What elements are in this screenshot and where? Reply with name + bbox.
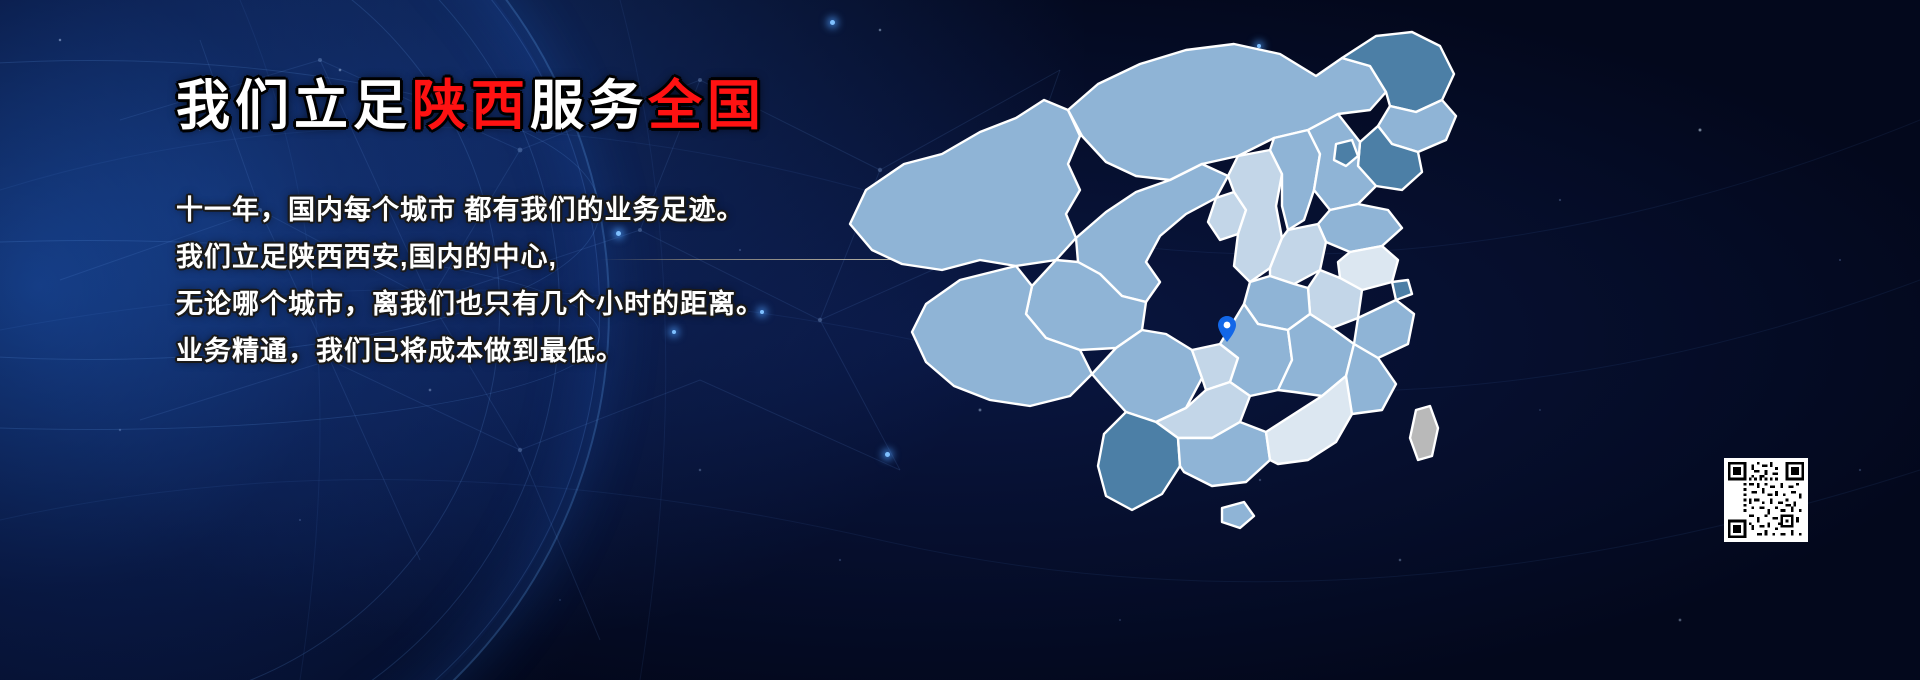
province-hainan bbox=[1222, 502, 1254, 528]
location-pin-icon[interactable] bbox=[1218, 316, 1236, 342]
body-line-1: 十一年，国内每个城市 都有我们的业务足迹。 bbox=[176, 187, 876, 234]
headline-highlight-shaanxi: 陕西 bbox=[412, 76, 530, 136]
body-line-2: 我们立足陕西西安,国内的中心, bbox=[176, 234, 876, 281]
headline-highlight-nationwide: 全国 bbox=[648, 76, 766, 136]
headline-part-1: 我们立足 bbox=[176, 76, 412, 136]
headline-part-3: 服务 bbox=[530, 76, 648, 136]
body-line-3: 无论哪个城市，离我们也只有几个小时的距离。 bbox=[176, 281, 876, 328]
china-map bbox=[830, 14, 1510, 574]
municipality-shanghai bbox=[1392, 280, 1412, 300]
copy-block: 我们立足陕西服务全国 十一年，国内每个城市 都有我们的业务足迹。 我们立足陕西西… bbox=[176, 78, 876, 375]
hero-banner: 我们立足陕西服务全国 十一年，国内每个城市 都有我们的业务足迹。 我们立足陕西西… bbox=[0, 0, 1920, 680]
province-taiwan bbox=[1410, 406, 1438, 460]
province-shandong bbox=[1318, 204, 1402, 252]
page-title: 我们立足陕西服务全国 bbox=[176, 78, 876, 135]
qr-code[interactable] bbox=[1724, 458, 1808, 542]
province-xinjiang bbox=[850, 100, 1080, 270]
body-line-4: 业务精通，我们已将成本做到最低。 bbox=[176, 328, 876, 375]
body-copy: 十一年，国内每个城市 都有我们的业务足迹。 我们立足陕西西安,国内的中心, 无论… bbox=[176, 187, 876, 375]
